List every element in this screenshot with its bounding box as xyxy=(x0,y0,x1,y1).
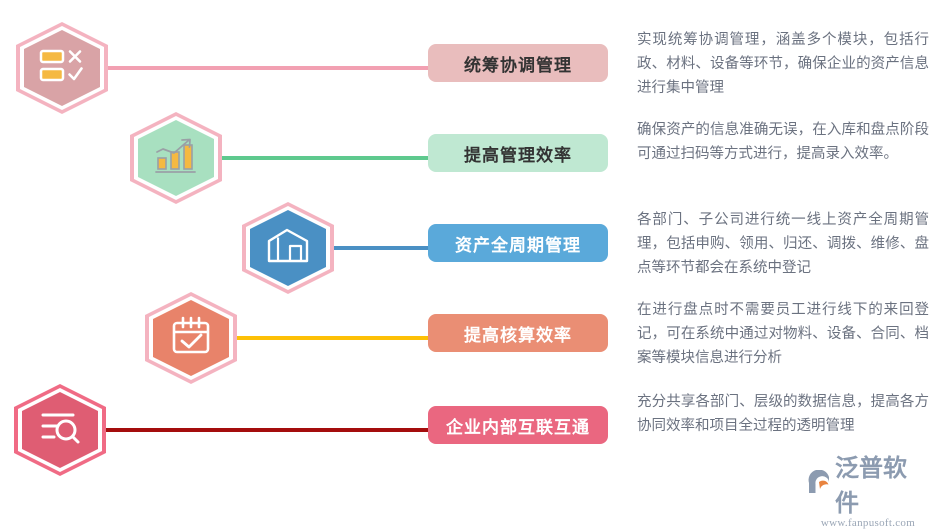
pill-label-5[interactable]: 企业内部互联互通 xyxy=(428,406,608,444)
logo-row: 泛普软件 xyxy=(806,448,930,518)
checklist-x-check-icon xyxy=(39,47,85,90)
pill-label-4[interactable]: 提高核算效率 xyxy=(428,314,608,352)
info-row-3: 资产全周期管理 各部门、子公司进行统一线上资产全周期管理，包括申购、领用、归还、… xyxy=(0,202,936,294)
info-row-1: 统筹协调管理 实现统筹协调管理，涵盖多个模块，包括行政、材料、设备等环节，确保企… xyxy=(0,22,936,114)
fanpu-logo-mark-icon xyxy=(806,470,832,496)
calendar-check-icon xyxy=(170,316,212,361)
pill-text: 提高核算效率 xyxy=(464,321,572,346)
logo-brand-text: 泛普软件 xyxy=(835,448,930,518)
pill-label-1[interactable]: 统筹协调管理 xyxy=(428,44,608,82)
bar-chart-growth-icon xyxy=(154,136,198,181)
hex-badge-3[interactable] xyxy=(240,202,336,294)
pill-text: 统筹协调管理 xyxy=(464,51,572,76)
info-row-4: 提高核算效率 在进行盘点时不需要员工进行线下的来回登记，可在系统中通过对物料、设… xyxy=(0,292,936,384)
pill-text: 资产全周期管理 xyxy=(455,231,581,256)
document-search-icon xyxy=(38,409,82,452)
connector-line-5 xyxy=(100,428,430,432)
connector-line-4 xyxy=(229,336,430,340)
pill-label-2[interactable]: 提高管理效率 xyxy=(428,134,608,172)
hex-badge-5[interactable] xyxy=(12,384,108,476)
hex-badge-1[interactable] xyxy=(14,22,110,114)
hex-badge-2[interactable] xyxy=(128,112,224,204)
connector-line-1 xyxy=(100,66,430,70)
description-text-4: 在进行盘点时不需要员工进行线下的来回登记，可在系统中通过对物料、设备、合同、档案… xyxy=(637,298,929,370)
description-text-1: 实现统筹协调管理，涵盖多个模块，包括行政、材料、设备等环节，确保企业的资产信息进… xyxy=(637,28,929,100)
info-row-5: 企业内部互联互通 充分共享各部门、层级的数据信息，提高各方协同效率和项目全过程的… xyxy=(0,384,936,476)
brand-logo: 泛普软件 www.fanpusoft.com xyxy=(806,448,930,494)
info-row-2: 提高管理效率 确保资产的信息准确无误，在入库和盘点阶段可通过扫码等方式进行，提高… xyxy=(0,112,936,204)
pill-label-3[interactable]: 资产全周期管理 xyxy=(428,224,608,262)
description-text-2: 确保资产的信息准确无误，在入库和盘点阶段可通过扫码等方式进行，提高录入效率。 xyxy=(637,118,929,166)
pill-text: 提高管理效率 xyxy=(464,141,572,166)
pill-text: 企业内部互联互通 xyxy=(446,413,590,438)
description-text-3: 各部门、子公司进行统一线上资产全周期管理，包括申购、领用、归还、调拨、维修、盘点… xyxy=(637,208,929,280)
infographic-canvas: 统筹协调管理 实现统筹协调管理，涵盖多个模块，包括行政、材料、设备等环节，确保企… xyxy=(0,0,936,500)
logo-url-text: www.fanpusoft.com xyxy=(821,517,915,529)
connector-line-3 xyxy=(326,246,430,250)
connector-line-2 xyxy=(214,156,430,160)
warehouse-building-icon xyxy=(266,228,310,269)
description-text-5: 充分共享各部门、层级的数据信息，提高各方协同效率和项目全过程的透明管理 xyxy=(637,390,929,438)
hex-badge-4[interactable] xyxy=(143,292,239,384)
